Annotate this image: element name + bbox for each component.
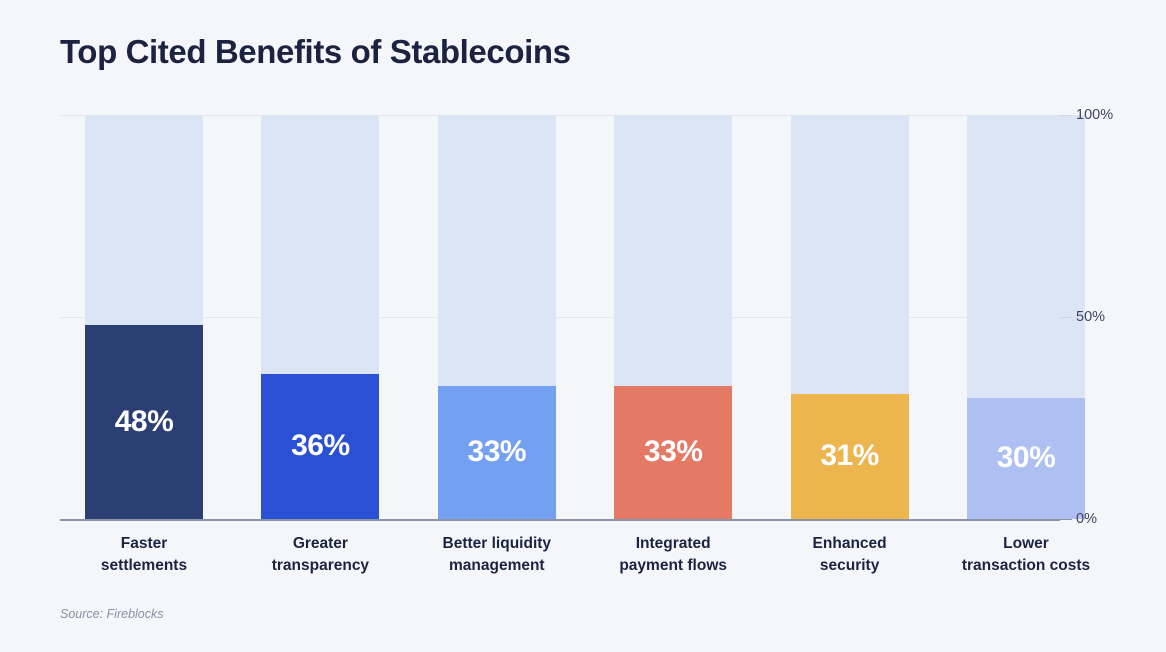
category-label-line: Lower — [937, 533, 1115, 555]
bar-value-label: 48% — [115, 407, 174, 437]
category-label-line: Enhanced — [761, 533, 939, 555]
bar-column[interactable]: 48% — [85, 115, 203, 519]
bar-column[interactable]: 31% — [791, 115, 909, 519]
bar-fill[interactable]: 33% — [614, 386, 732, 519]
chart-page: Top Cited Benefits of Stablecoins 48%36%… — [0, 0, 1166, 652]
category-label-line: Integrated — [584, 533, 762, 555]
tick-mark — [1060, 115, 1072, 116]
bar-value-label: 33% — [468, 437, 527, 467]
category-label-line: Greater — [231, 533, 409, 555]
category-label-line: Better liquidity — [408, 533, 586, 555]
category-label-line: settlements — [55, 555, 233, 577]
tick-mark — [1060, 317, 1072, 318]
x-axis-category-label: Enhancedsecurity — [761, 533, 939, 578]
plot-area: 48%36%33%33%31%30% 0%50%100% — [60, 115, 1060, 519]
bar-column[interactable]: 36% — [261, 115, 379, 519]
tick-mark — [1060, 519, 1072, 520]
category-label-line: transaction costs — [937, 555, 1115, 577]
page-title: Top Cited Benefits of Stablecoins — [60, 33, 571, 71]
bar-column[interactable]: 33% — [614, 115, 732, 519]
category-label-line: Faster — [55, 533, 233, 555]
bar-column[interactable]: 33% — [438, 115, 556, 519]
x-axis-category-label: Greatertransparency — [231, 533, 409, 578]
category-label-line: transparency — [231, 555, 409, 577]
category-label-line: management — [408, 555, 586, 577]
gridline-50pct — [60, 317, 1060, 318]
bar-value-label: 33% — [644, 437, 703, 467]
bar-fill[interactable]: 30% — [967, 398, 1085, 519]
bar-fill[interactable]: 36% — [261, 374, 379, 519]
x-axis-category-label: Lowertransaction costs — [937, 533, 1115, 578]
bar-value-label: 31% — [820, 441, 879, 471]
x-axis-category-label: Integratedpayment flows — [584, 533, 762, 578]
bar-value-label: 30% — [997, 443, 1056, 473]
bar-fill[interactable]: 31% — [791, 394, 909, 519]
bar-fill[interactable]: 33% — [438, 386, 556, 519]
y-axis-tick-label: 50% — [1076, 309, 1105, 325]
x-axis-category-label: Better liquiditymanagement — [408, 533, 586, 578]
bar-fill[interactable]: 48% — [85, 325, 203, 519]
gridline-100pct — [60, 115, 1060, 116]
gridline-0pct — [60, 519, 1060, 521]
x-axis-category-label: Fastersettlements — [55, 533, 233, 578]
y-axis-tick-label: 0% — [1076, 511, 1097, 527]
category-label-line: payment flows — [584, 555, 762, 577]
bar-value-label: 36% — [291, 431, 350, 461]
category-label-line: security — [761, 555, 939, 577]
source-note: Source: Fireblocks — [60, 607, 164, 621]
y-axis-tick-label: 100% — [1076, 107, 1113, 123]
